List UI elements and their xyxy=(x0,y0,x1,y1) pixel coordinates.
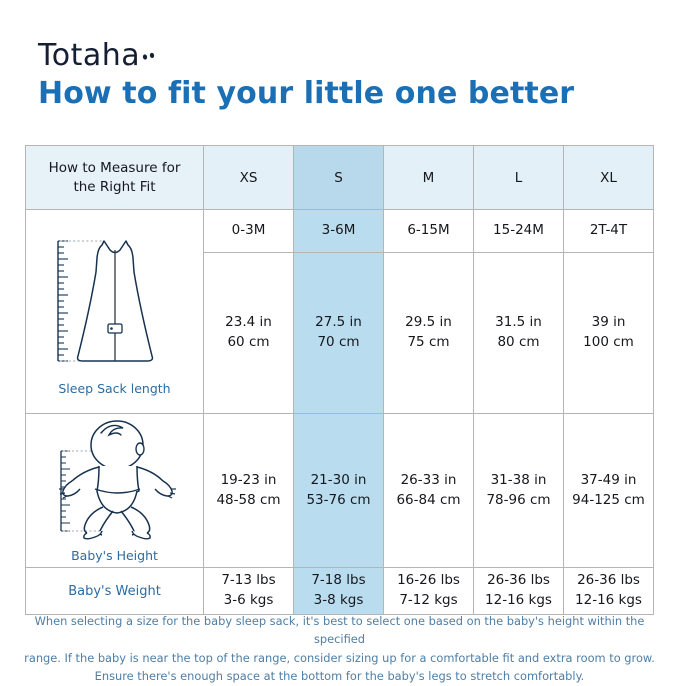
cell-weight-m-kgs: 7-12 kgs xyxy=(384,591,473,611)
cell-weight-xl-lbs: 26-36 lbs xyxy=(564,571,653,591)
cell-weight-l: 26-36 lbs 12-16 kgs xyxy=(474,568,564,615)
cell-age-xs: 0-3M xyxy=(204,210,294,253)
cell-weight-s-lbs: 7-18 lbs xyxy=(294,571,383,591)
brand-name: Totaha xyxy=(38,41,140,71)
baby-height-caption: Baby's Height xyxy=(71,548,158,563)
sleep-sack-illustration-cell: Sleep Sack length xyxy=(26,210,204,414)
cell-weight-s-kgs: 3-8 kgs xyxy=(294,591,383,611)
cell-age-l: 15-24M xyxy=(474,210,564,253)
footnote-line2: range. If the baby is near the top of th… xyxy=(22,649,657,667)
table-header-row: How to Measure for the Right Fit XS S M … xyxy=(26,146,654,210)
header-size-s[interactable]: S xyxy=(294,146,384,210)
cell-length-xs-in: 23.4 in xyxy=(204,313,293,333)
sizing-guidance-note: When selecting a size for the baby sleep… xyxy=(22,612,657,686)
cell-length-m-cm: 75 cm xyxy=(384,333,473,353)
cell-age-m-value: 6-15M xyxy=(384,221,473,241)
cell-height-l-cm: 78-96 cm xyxy=(474,491,563,511)
cell-height-l-in: 31-38 in xyxy=(474,471,563,491)
table-row-baby-height: Baby's Height 19-23 in 48-58 cm 21-30 in… xyxy=(26,414,654,568)
sleep-sack-caption: Sleep Sack length xyxy=(58,381,170,396)
cell-age-l-value: 15-24M xyxy=(474,221,563,241)
header-size-l[interactable]: L xyxy=(474,146,564,210)
cell-weight-xs-kgs: 3-6 kgs xyxy=(204,591,293,611)
table-row-age: Sleep Sack length 0-3M 3-6M 6-15M 15-24M… xyxy=(26,210,654,253)
cell-weight-m-lbs: 16-26 lbs xyxy=(384,571,473,591)
cell-height-s-in: 21-30 in xyxy=(294,471,383,491)
cell-height-s: 21-30 in 53-76 cm xyxy=(294,414,384,568)
cell-age-xs-value: 0-3M xyxy=(204,221,293,241)
cell-height-xl: 37-49 in 94-125 cm xyxy=(564,414,654,568)
cell-length-s-cm: 70 cm xyxy=(294,333,383,353)
cell-height-m-in: 26-33 in xyxy=(384,471,473,491)
cell-height-l: 31-38 in 78-96 cm xyxy=(474,414,564,568)
cell-weight-m: 16-26 lbs 7-12 kgs xyxy=(384,568,474,615)
cell-weight-xl-kgs: 12-16 kgs xyxy=(564,591,653,611)
cell-weight-xs: 7-13 lbs 3-6 kgs xyxy=(204,568,294,615)
cell-length-xl-in: 39 in xyxy=(564,313,653,333)
cell-age-s-value: 3-6M xyxy=(294,221,383,241)
cell-weight-s: 7-18 lbs 3-8 kgs xyxy=(294,568,384,615)
cell-length-m-in: 29.5 in xyxy=(384,313,473,333)
cell-height-xs-in: 19-23 in xyxy=(204,471,293,491)
header-size-m[interactable]: M xyxy=(384,146,474,210)
header-measure-label: How to Measure for the Right Fit xyxy=(26,146,204,210)
brand-logo: Totaha xyxy=(38,29,140,71)
size-chart-table: How to Measure for the Right Fit XS S M … xyxy=(25,145,654,615)
cell-weight-xs-lbs: 7-13 lbs xyxy=(204,571,293,591)
sleep-sack-with-ruler-icon xyxy=(40,228,190,378)
table-row-baby-weight: Baby's Weight 7-13 lbs 3-6 kgs 7-18 lbs … xyxy=(26,568,654,615)
footnote-line3: Ensure there's enough space at the botto… xyxy=(22,667,657,685)
cell-weight-l-kgs: 12-16 kgs xyxy=(474,591,563,611)
cell-height-xl-cm: 94-125 cm xyxy=(564,491,653,511)
page-title: How to fit your little one better xyxy=(38,76,574,111)
cell-age-m: 6-15M xyxy=(384,210,474,253)
baby-with-ruler-icon xyxy=(39,419,191,545)
cell-age-xl: 2T-4T xyxy=(564,210,654,253)
baby-weight-label: Baby's Weight xyxy=(26,568,204,615)
cell-length-xl: 39 in 100 cm xyxy=(564,253,654,414)
cell-height-m-cm: 66-84 cm xyxy=(384,491,473,511)
header-measure-line1: How to Measure for xyxy=(26,159,203,177)
diaeresis-dots-icon xyxy=(141,52,157,66)
cell-height-xl-in: 37-49 in xyxy=(564,471,653,491)
cell-age-s: 3-6M xyxy=(294,210,384,253)
cell-length-xs: 23.4 in 60 cm xyxy=(204,253,294,414)
cell-length-xs-cm: 60 cm xyxy=(204,333,293,353)
cell-height-m: 26-33 in 66-84 cm xyxy=(384,414,474,568)
cell-age-xl-value: 2T-4T xyxy=(564,221,653,241)
cell-height-s-cm: 53-76 cm xyxy=(294,491,383,511)
cell-height-xs: 19-23 in 48-58 cm xyxy=(204,414,294,568)
cell-length-l-in: 31.5 in xyxy=(474,313,563,333)
header-size-xs[interactable]: XS xyxy=(204,146,294,210)
baby-illustration-cell: Baby's Height xyxy=(26,414,204,568)
footnote-line1: When selecting a size for the baby sleep… xyxy=(22,612,657,649)
cell-length-s-in: 27.5 in xyxy=(294,313,383,333)
cell-length-l-cm: 80 cm xyxy=(474,333,563,353)
header-size-xl[interactable]: XL xyxy=(564,146,654,210)
cell-length-m: 29.5 in 75 cm xyxy=(384,253,474,414)
cell-weight-l-lbs: 26-36 lbs xyxy=(474,571,563,591)
cell-weight-xl: 26-36 lbs 12-16 kgs xyxy=(564,568,654,615)
cell-height-xs-cm: 48-58 cm xyxy=(204,491,293,511)
cell-length-l: 31.5 in 80 cm xyxy=(474,253,564,414)
cell-length-xl-cm: 100 cm xyxy=(564,333,653,353)
header-measure-line2: the Right Fit xyxy=(26,178,203,196)
cell-length-s: 27.5 in 70 cm xyxy=(294,253,384,414)
